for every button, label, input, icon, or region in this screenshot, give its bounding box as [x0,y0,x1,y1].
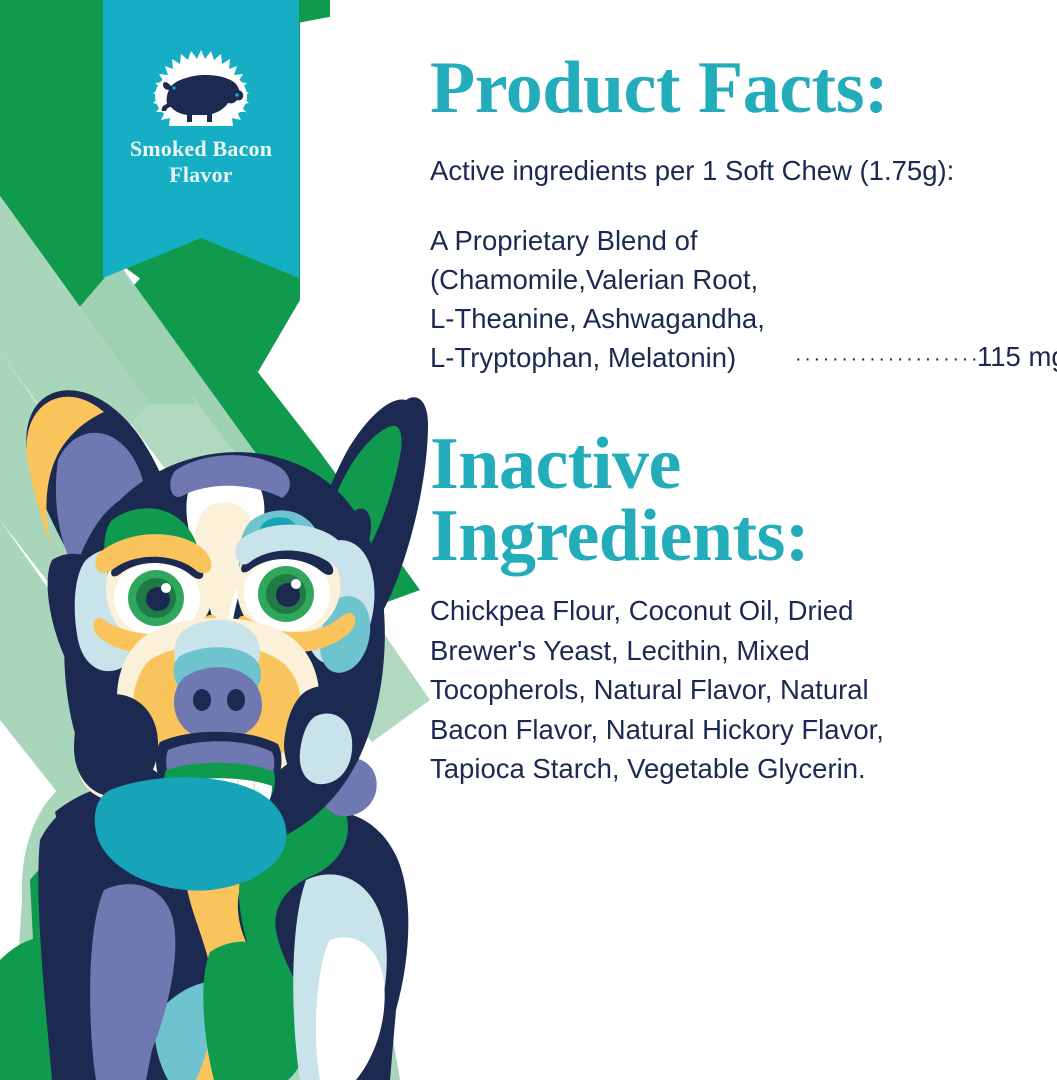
active-blend-block: A Proprietary Blend of (Chamomile,Valeri… [430,221,1050,376]
active-serving-line: Active ingredients per 1 Soft Chew (1.75… [430,151,1050,191]
inactive-ingredients-list: Chickpea Flour, Coconut Oil, Dried Brewe… [430,591,1050,789]
dog-left-eye [106,542,213,642]
dog-mouth [156,732,281,825]
leader-dots: ······························· [795,349,977,369]
flavor-label: Smoked Bacon Flavor [103,136,299,187]
product-facts-heading: Product Facts: [430,52,1050,125]
product-facts-panel: Smoked Bacon Flavor Product Facts: Activ… [0,0,1057,1080]
mint-diagonal-band [0,196,430,960]
pop-art-dog-illustration [0,390,428,1080]
dog-nose [174,667,262,740]
inactive-ingredients-heading: Inactive Ingredients: [430,428,1050,573]
facts-text-column: Product Facts: Active ingredients per 1 … [430,52,1050,789]
smoked-bacon-flavor-ribbon: Smoked Bacon Flavor [103,0,299,278]
active-amount-row: ······························· 115 mg [795,337,1050,376]
active-amount: 115 mg [977,337,1057,376]
pig-starburst-seal-icon [149,48,253,126]
inactive-heading-wrap: Inactive Ingredients: [430,428,1050,573]
dog-right-eye [237,538,341,638]
